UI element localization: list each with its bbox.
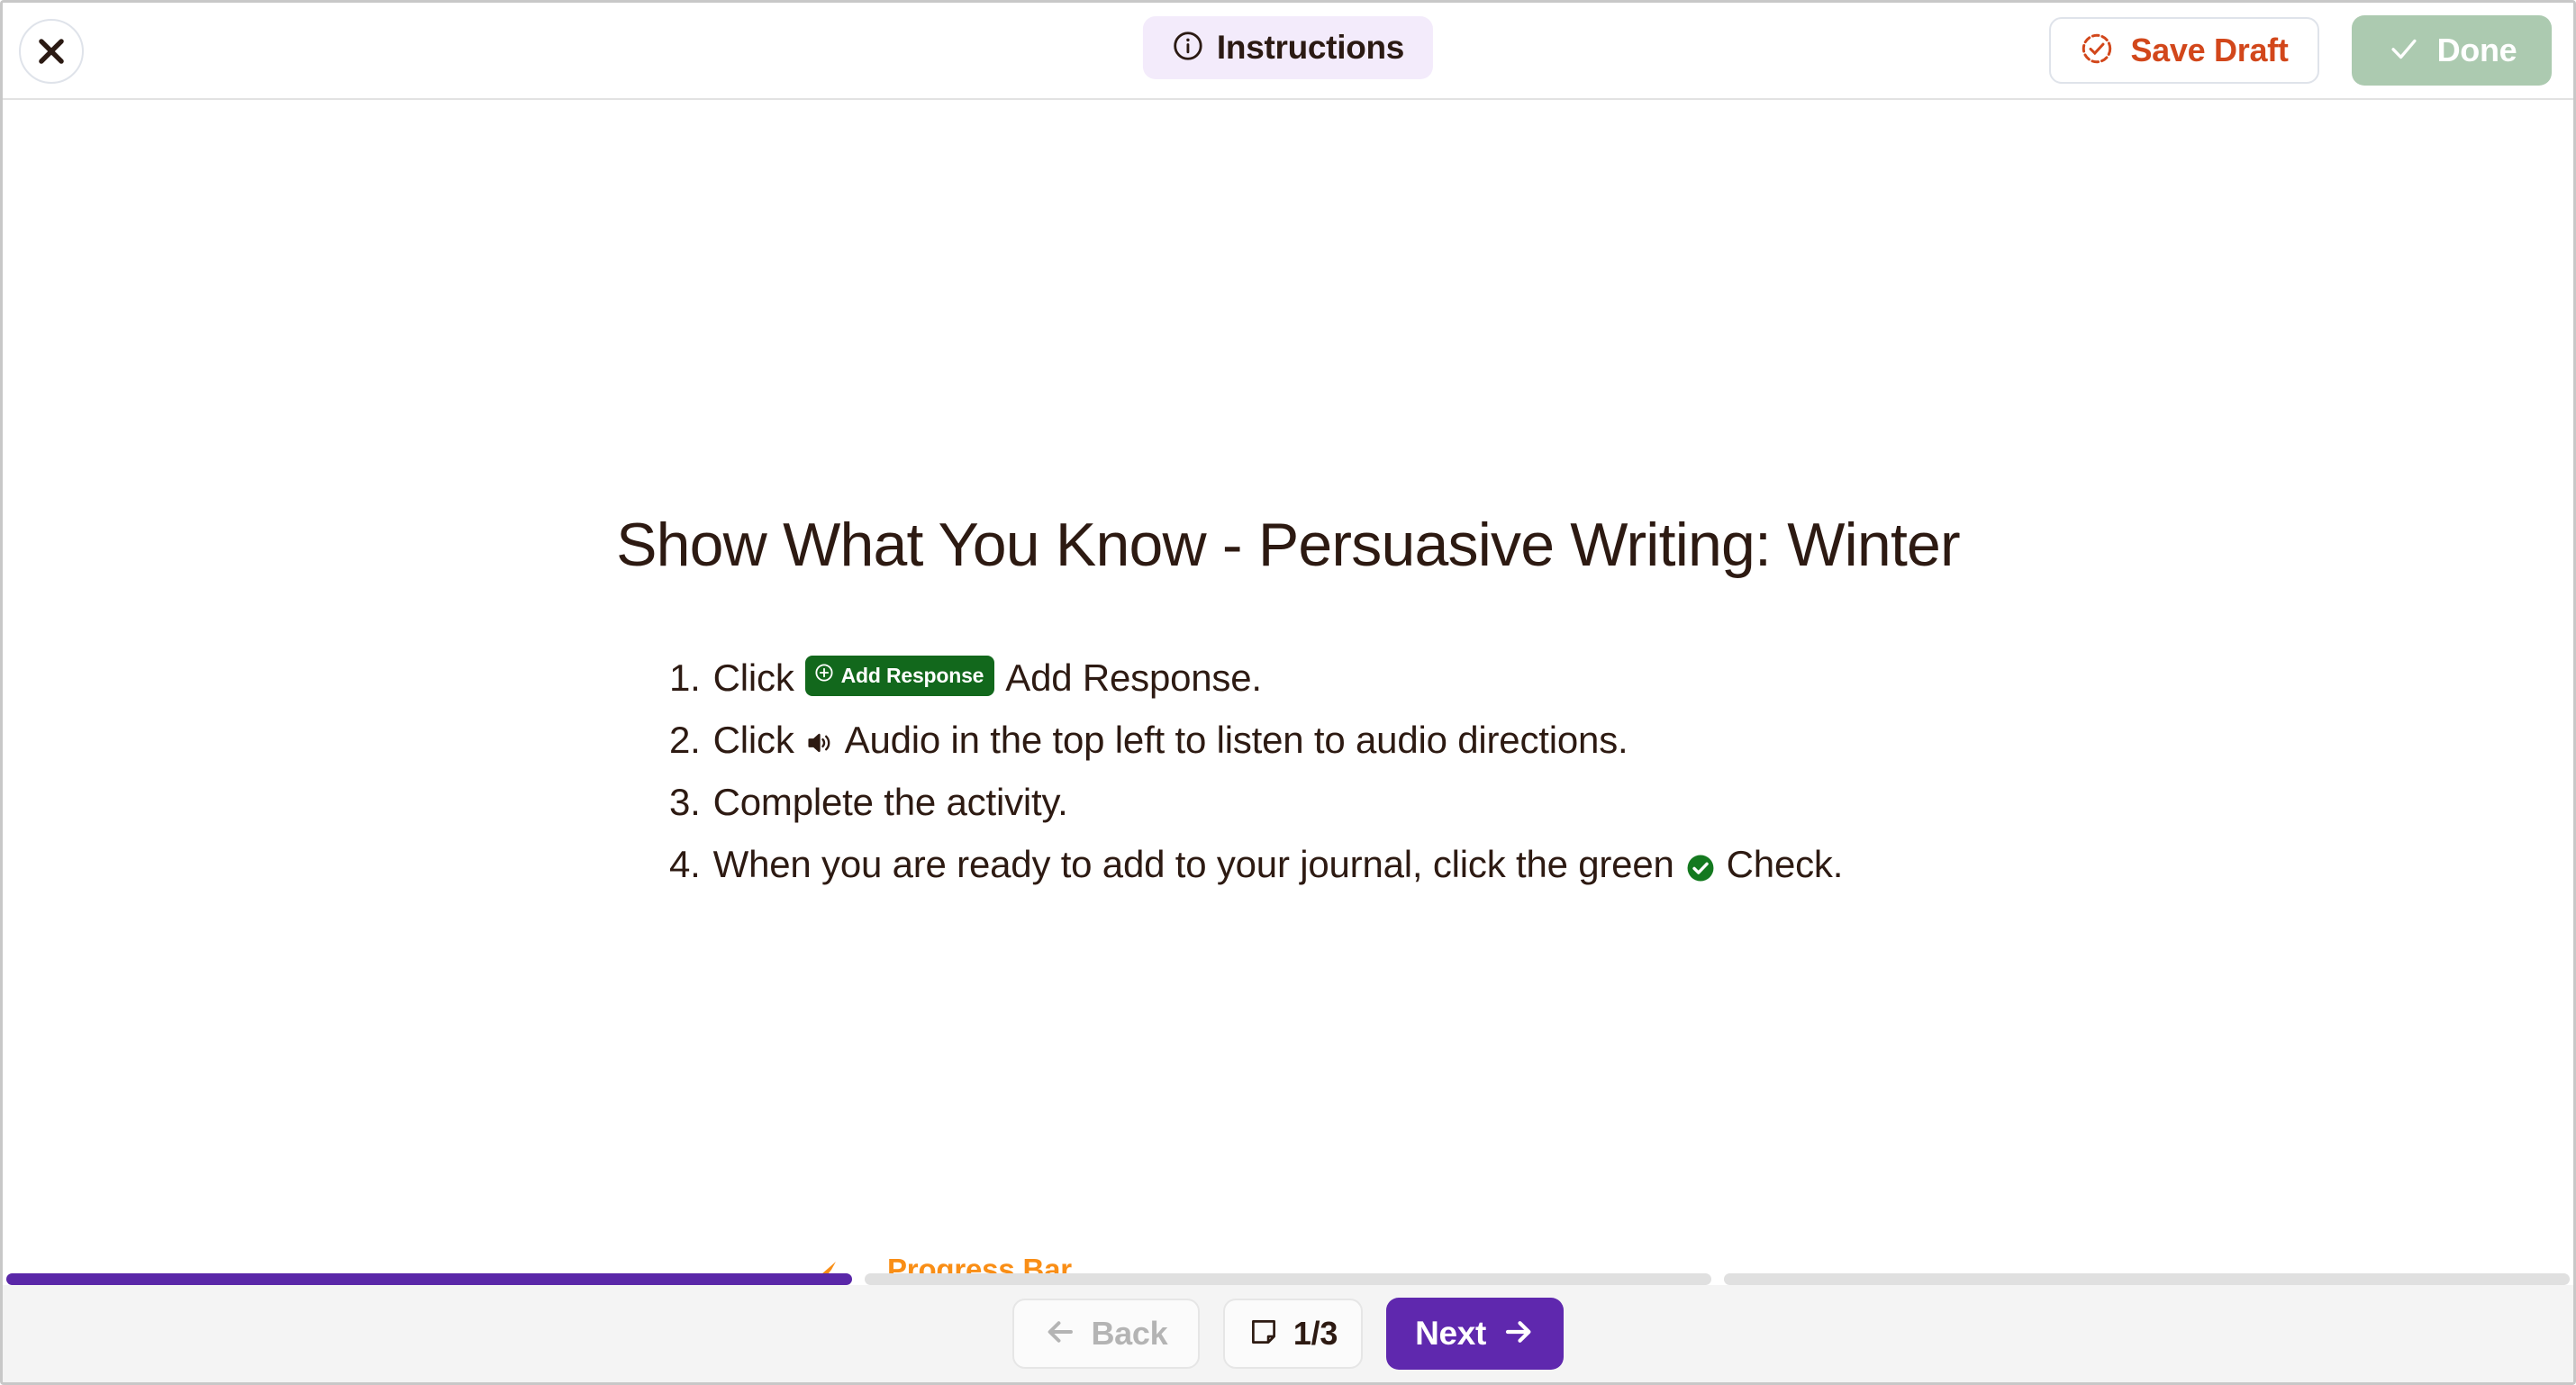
done-label: Done (2437, 32, 2517, 69)
arrow-right-icon (1502, 1316, 1535, 1353)
progress-segment-3 (1724, 1273, 2570, 1285)
back-button[interactable]: Back (1012, 1299, 1200, 1369)
step-number: 3. (669, 774, 701, 830)
page-note-icon (1248, 1317, 1279, 1352)
plus-circle-icon (814, 660, 834, 692)
list-item: 2. Click Audio in the top left to listen… (669, 711, 1843, 768)
page-indicator[interactable]: 1/3 (1223, 1299, 1363, 1369)
progress-segment-2 (865, 1273, 1710, 1285)
list-item: 1. Click Add Response Add Response. (669, 649, 1843, 706)
save-draft-label: Save Draft (2130, 32, 2288, 69)
app-window: Instructions Save Draft Done (0, 0, 2576, 1385)
back-label: Back (1091, 1315, 1167, 1353)
close-icon (34, 34, 68, 68)
instructions-label: Instructions (1217, 29, 1404, 67)
app-footer: Back 1/3 Next (3, 1285, 2573, 1382)
list-item: 3. Complete the activity. (669, 774, 1843, 830)
next-label: Next (1415, 1315, 1486, 1353)
step-text-pre: When you are ready to add to your journa… (713, 836, 1674, 892)
step-text-pre: Click (713, 711, 794, 768)
header-actions: Save Draft Done (2049, 15, 2552, 86)
save-draft-button[interactable]: Save Draft (2049, 17, 2319, 84)
arrow-left-icon (1044, 1316, 1076, 1353)
speaker-icon (805, 729, 834, 757)
check-circle-dashed-icon (2080, 32, 2114, 70)
page-indicator-label: 1/3 (1293, 1315, 1338, 1353)
progress-bar[interactable] (3, 1273, 2573, 1285)
done-button[interactable]: Done (2352, 15, 2552, 86)
instructions-badge[interactable]: Instructions (1143, 16, 1433, 79)
step-text-post: Add Response. (1005, 649, 1262, 706)
green-check-circle-icon (1685, 853, 1716, 883)
next-button[interactable]: Next (1386, 1298, 1564, 1370)
step-number: 2. (669, 711, 701, 768)
page-title: Show What You Know - Persuasive Writing:… (3, 510, 2573, 580)
slide-content: Show What You Know - Persuasive Writing:… (3, 100, 2573, 1283)
step-text-pre: Click (713, 649, 794, 706)
check-icon (2387, 32, 2421, 70)
progress-segment-1 (6, 1273, 852, 1285)
info-circle-icon (1172, 30, 1204, 67)
close-button[interactable] (19, 19, 84, 84)
app-header: Instructions Save Draft Done (3, 3, 2573, 100)
step-number: 1. (669, 649, 701, 706)
step-text-post: Audio in the top left to listen to audio… (845, 711, 1628, 768)
list-item: 4. When you are ready to add to your jou… (669, 836, 1843, 892)
add-response-chip-label: Add Response (841, 660, 984, 692)
add-response-chip[interactable]: Add Response (805, 656, 995, 697)
step-number: 4. (669, 836, 701, 892)
step-text-post: Check. (1727, 836, 1844, 892)
step-text: Complete the activity. (713, 774, 1068, 830)
instruction-list: 1. Click Add Response Add Response. 2. (669, 649, 1843, 898)
